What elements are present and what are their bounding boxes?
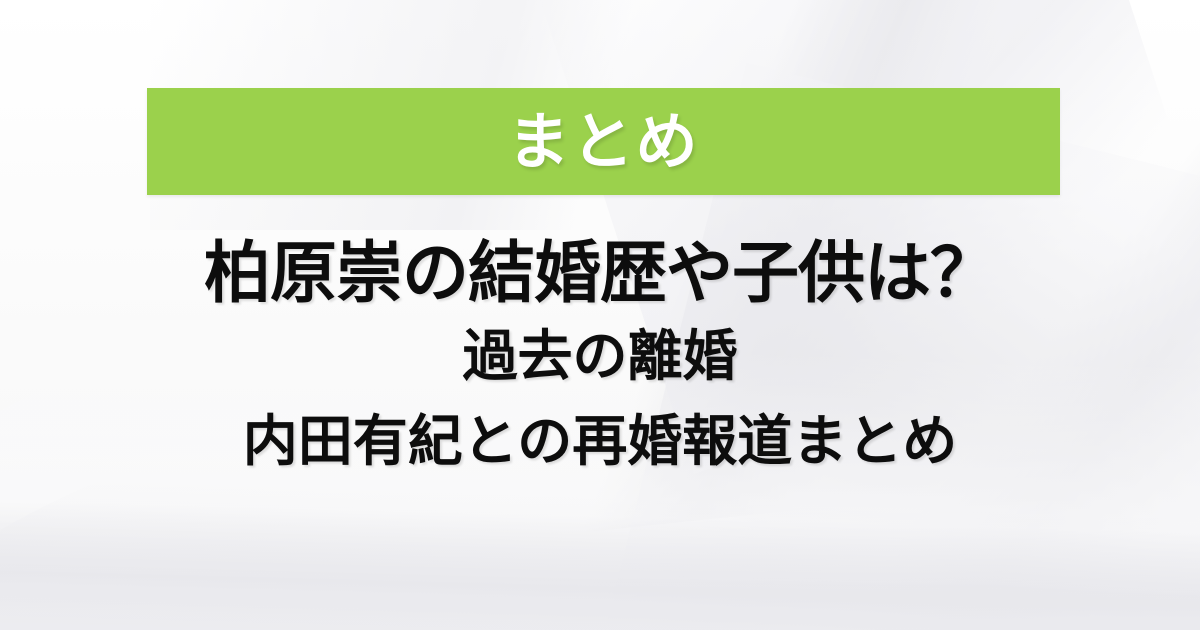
title-line-3: 内田有紀との再婚報道まとめ — [0, 414, 1200, 469]
category-banner: まとめ — [147, 88, 1060, 195]
title-line-2: 過去の離婚 — [0, 329, 1200, 384]
eyecatch-image: まとめ 柏原崇の結婚歴や子供は？ 過去の離婚 内田有紀との再婚報道まとめ — [0, 0, 1200, 630]
page-title: 柏原崇の結婚歴や子供は？ 過去の離婚 内田有紀との再婚報道まとめ — [0, 240, 1200, 469]
category-banner-label: まとめ — [507, 111, 699, 173]
eyecatch-content: まとめ 柏原崇の結婚歴や子供は？ 過去の離婚 内田有紀との再婚報道まとめ — [0, 0, 1200, 630]
title-line-1: 柏原崇の結婚歴や子供は？ — [0, 240, 1200, 307]
